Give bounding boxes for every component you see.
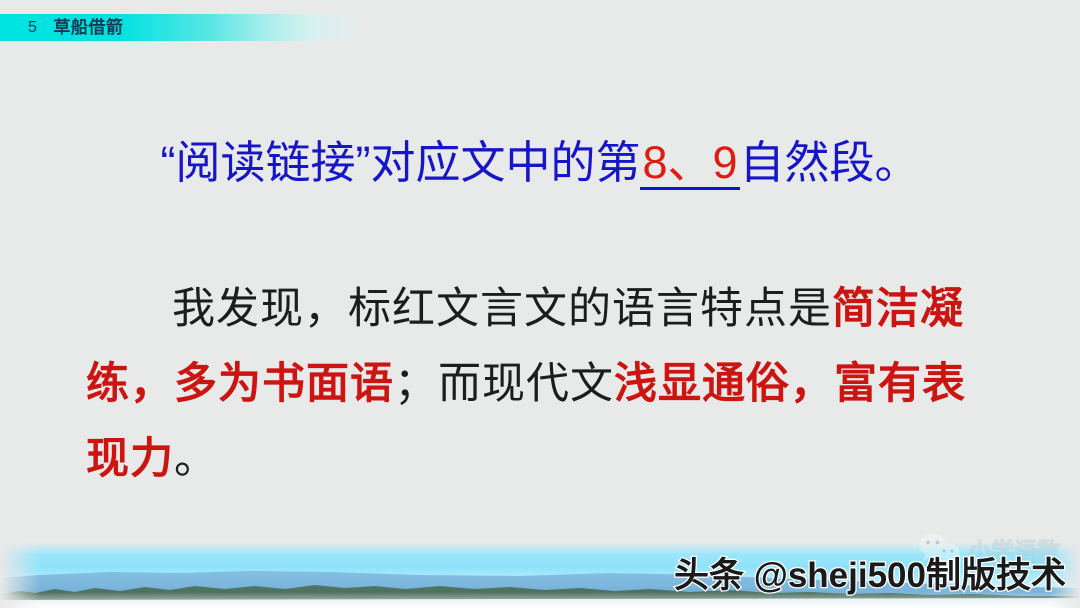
- question-line: “阅读链接”对应文中的第8、9自然段。: [0, 126, 1080, 191]
- lesson-number: 5: [28, 14, 37, 41]
- lesson-title: 草船借箭: [53, 14, 123, 41]
- question-prefix: “阅读链接”对应文中的第: [160, 137, 640, 188]
- answer-blank: 8、9: [640, 139, 739, 190]
- landscape-left-fade: [0, 542, 40, 608]
- paragraph-segment-3: ；而现代文: [394, 361, 614, 408]
- slide-canvas: 5 草船借箭 “阅读链接”对应文中的第8、9自然段。 我发现，标红文言文的语言特…: [0, 0, 1080, 608]
- brand-watermark-text: 头条 @sheji500制版技术: [674, 547, 1066, 598]
- brand-watermark: 头条 @sheji500制版技术: [674, 547, 1066, 598]
- header: 5 草船借箭: [0, 14, 123, 41]
- question-suffix: 自然段。: [740, 137, 920, 188]
- paragraph-segment-1: 我发现，标红文言文的语言特点是: [172, 286, 832, 333]
- answer-paragraph: 我发现，标红文言文的语言特点是简洁凝练，多为书面语；而现代文浅显通俗，富有表现力…: [86, 272, 966, 497]
- paragraph-segment-5: 。: [174, 436, 218, 483]
